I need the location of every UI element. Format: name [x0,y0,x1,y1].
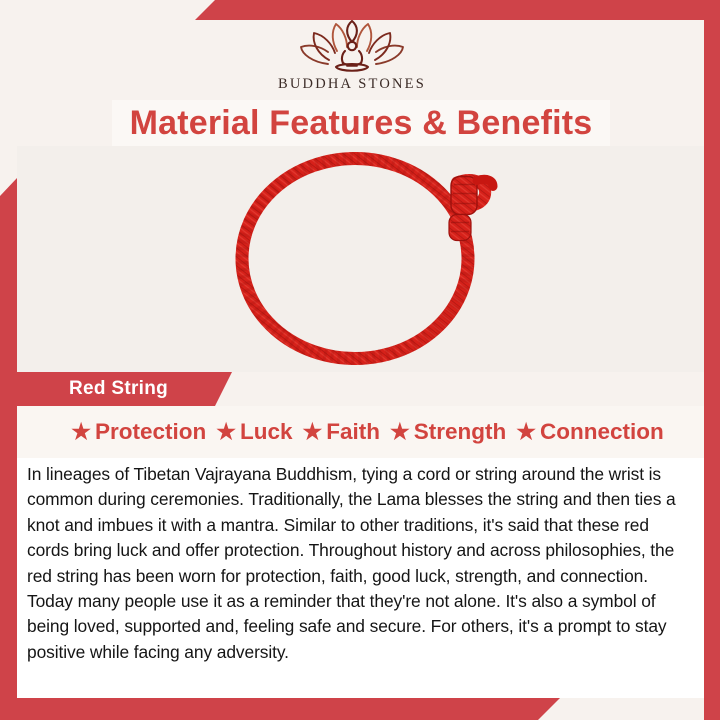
product-label: Red String [69,378,168,400]
product-label-banner: Red String [17,372,232,406]
benefit-label: Faith [326,419,380,445]
star-icon: ★ [303,421,323,443]
benefit-item-protection: ★ Protection [71,419,206,445]
benefit-label: Connection [540,419,664,445]
brand-name: BUDDHA STONES [278,76,426,93]
page-title: Material Features & Benefits [130,104,593,143]
benefits-row: ★ Protection ★ Luck ★ Faith ★ Strength ★… [17,406,704,458]
star-icon: ★ [390,421,410,443]
star-icon: ★ [71,421,91,443]
benefit-item-luck: ★ Luck [216,419,292,445]
benefit-label: Protection [95,419,206,445]
description-card: In lineages of Tibetan Vajrayana Buddhis… [17,458,704,698]
brand-header: BUDDHA STONES [0,20,704,100]
benefit-label: Luck [240,419,293,445]
infographic-page: BUDDHA STONES Material Features & Benefi… [0,0,720,720]
benefit-item-faith: ★ Faith [303,419,380,445]
bottom-accent-band [0,698,560,720]
star-icon: ★ [516,421,536,443]
benefit-item-connection: ★ Connection [516,419,663,445]
description-text: In lineages of Tibetan Vajrayana Buddhis… [27,462,690,665]
benefit-item-strength: ★ Strength [390,419,506,445]
benefit-label: Strength [414,419,507,445]
product-image-area [17,146,704,372]
title-banner: Material Features & Benefits [112,100,610,146]
top-accent-band [195,0,720,20]
red-braided-string-bracelet [221,147,501,372]
lotus-meditation-icon [298,20,406,74]
right-accent-band [704,0,720,720]
star-icon: ★ [216,421,236,443]
left-accent-band [0,178,17,720]
